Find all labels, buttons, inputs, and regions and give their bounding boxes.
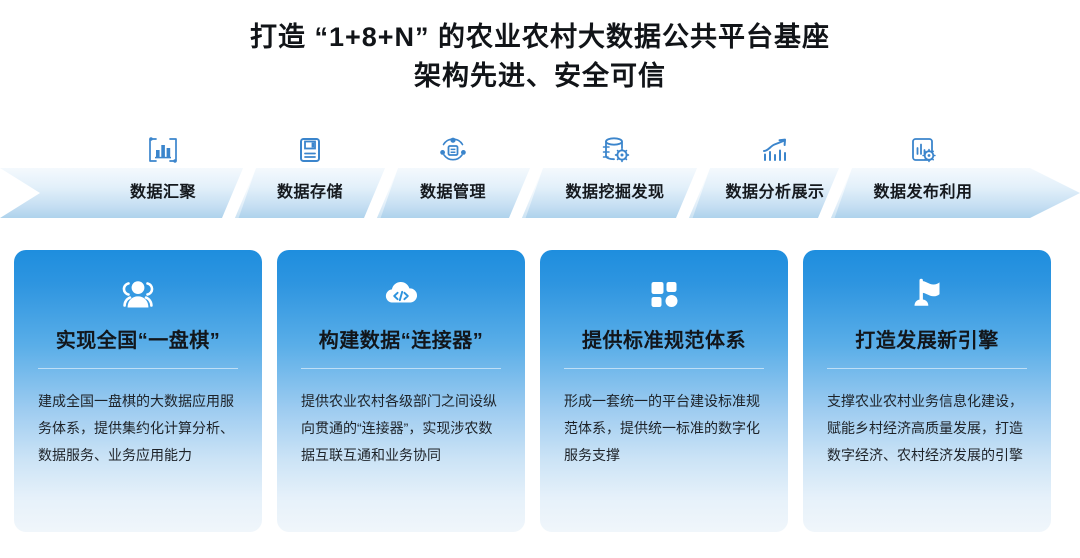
card-title: 打造发展新引擎 [803, 324, 1051, 353]
feature-card-2[interactable]: 构建数据“连接器” 提供农业农村各级部门之间设纵向贯通的“连接器”，实现涉农数据… [277, 250, 525, 532]
card-divider [827, 368, 1027, 369]
bar-chart-frame-icon [146, 134, 180, 166]
feature-cards: 实现全国“一盘棋” 建成全国一盘棋的大数据应用服务体系，提供集约化计算分析、数据… [0, 250, 1080, 532]
ribbon-stage-2[interactable]: 数据存储 [235, 130, 385, 226]
four-blocks-icon [642, 274, 686, 314]
card-title: 构建数据“连接器” [277, 324, 525, 353]
flag-icon [905, 274, 949, 314]
people-group-icon [116, 274, 160, 314]
card-divider [38, 368, 238, 369]
ribbon-stage-5[interactable]: 数据分析展示 [690, 130, 860, 226]
card-divider [564, 368, 764, 369]
card-body: 提供农业农村各级部门之间设纵向贯通的“连接器”，实现涉农数据互联互通和业务协同 [301, 388, 503, 469]
ribbon-stage-label: 数据存储 [277, 178, 343, 202]
feature-card-4[interactable]: 打造发展新引擎 支撑农业农村业务信息化建设，赋能乡村经济高质量发展，打造数字经济… [803, 250, 1051, 532]
card-body: 建成全国一盘棋的大数据应用服务体系，提供集约化计算分析、数据服务、业务应用能力 [38, 388, 240, 469]
ribbon-stage-label: 数据管理 [420, 178, 486, 202]
floppy-disk-icon [293, 134, 327, 166]
card-divider [301, 368, 501, 369]
trend-up-bars-icon [758, 134, 792, 166]
ribbon-stage-label: 数据分析展示 [725, 178, 824, 202]
ribbon-stage-label: 数据汇聚 [130, 178, 196, 202]
card-body: 形成一套统一的平台建设标准规范体系，提供统一标准的数字化服务支撑 [564, 388, 766, 469]
ribbon-stage-label: 数据发布利用 [873, 178, 972, 202]
node-network-icon [436, 134, 470, 166]
database-gear-icon [598, 134, 632, 166]
page-title: 打造 “1+8+N” 的农业农村大数据公共平台基座 架构先进、安全可信 [0, 18, 1080, 96]
card-body: 支撑农业农村业务信息化建设，赋能乡村经济高质量发展，打造数字经济、农村经济发展的… [827, 388, 1029, 469]
card-title: 实现全国“一盘棋” [14, 324, 262, 353]
document-gear-icon [906, 134, 940, 166]
feature-card-1[interactable]: 实现全国“一盘棋” 建成全国一盘棋的大数据应用服务体系，提供集约化计算分析、数据… [14, 250, 262, 532]
cloud-code-icon [379, 274, 423, 314]
process-ribbon: 数据汇聚 数据存储 [0, 130, 1080, 226]
title-line-2: 架构先进、安全可信 [0, 57, 1080, 96]
ribbon-stage-6[interactable]: 数据发布利用 [838, 130, 1008, 226]
ribbon-stage-label: 数据挖掘发现 [565, 178, 664, 202]
card-title: 提供标准规范体系 [540, 324, 788, 353]
ribbon-stage-3[interactable]: 数据管理 [378, 130, 528, 226]
ribbon-stage-4[interactable]: 数据挖掘发现 [530, 130, 700, 226]
title-line-1: 打造 “1+8+N” 的农业农村大数据公共平台基座 [0, 18, 1080, 57]
ribbon-stage-1[interactable]: 数据汇聚 [88, 130, 238, 226]
feature-card-3[interactable]: 提供标准规范体系 形成一套统一的平台建设标准规范体系，提供统一标准的数字化服务支… [540, 250, 788, 532]
slide-canvas: 打造 “1+8+N” 的农业农村大数据公共平台基座 架构先进、安全可信 [0, 0, 1080, 558]
